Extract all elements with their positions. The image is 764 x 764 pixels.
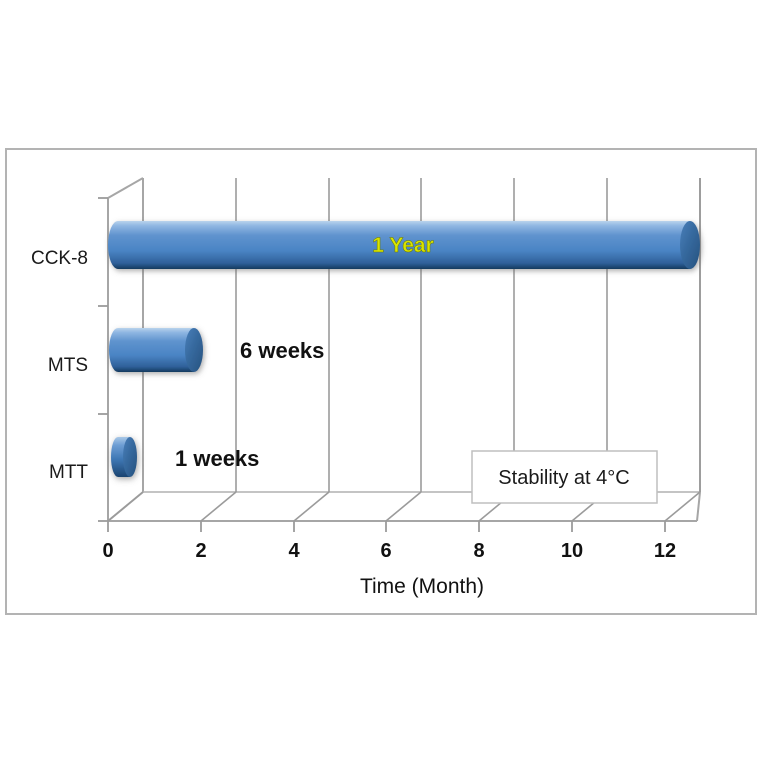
x-tick-label-4: 4: [288, 540, 300, 562]
y-tick-label-mts: MTS: [48, 355, 88, 376]
legend-label: Stability at 4°C: [498, 467, 629, 489]
x-tick-label-12: 12: [654, 540, 676, 562]
legend[interactable]: Stability at 4°C: [472, 451, 657, 503]
bar-label-cck8: 1 Year: [372, 234, 434, 257]
bar-label-mts: 6 weeks: [240, 338, 324, 363]
x-tick-label-8: 8: [473, 540, 484, 562]
x-tick-label-6: 6: [380, 540, 391, 562]
bar-mtt[interactable]: [111, 437, 137, 477]
y-axis-ticks: [98, 198, 108, 521]
bar-label-mtt: 1 weeks: [175, 446, 259, 471]
x-tick-label-10: 10: [561, 540, 583, 562]
x-tick-label-0: 0: [102, 540, 113, 562]
x-axis-title: Time (Month): [360, 575, 484, 598]
y-tick-label-cck8: CCK-8: [31, 248, 88, 269]
chart-canvas: 1 Year 6 weeks 1 weeks CCK-8 MTS MTT 0 2…: [0, 0, 764, 764]
bar-mts[interactable]: [109, 328, 203, 372]
chart-plot: 1 Year 6 weeks 1 weeks CCK-8 MTS MTT 0 2…: [0, 0, 764, 764]
y-tick-label-mtt: MTT: [49, 462, 88, 483]
x-axis-ticks: [108, 521, 665, 532]
x-tick-label-2: 2: [195, 540, 206, 562]
